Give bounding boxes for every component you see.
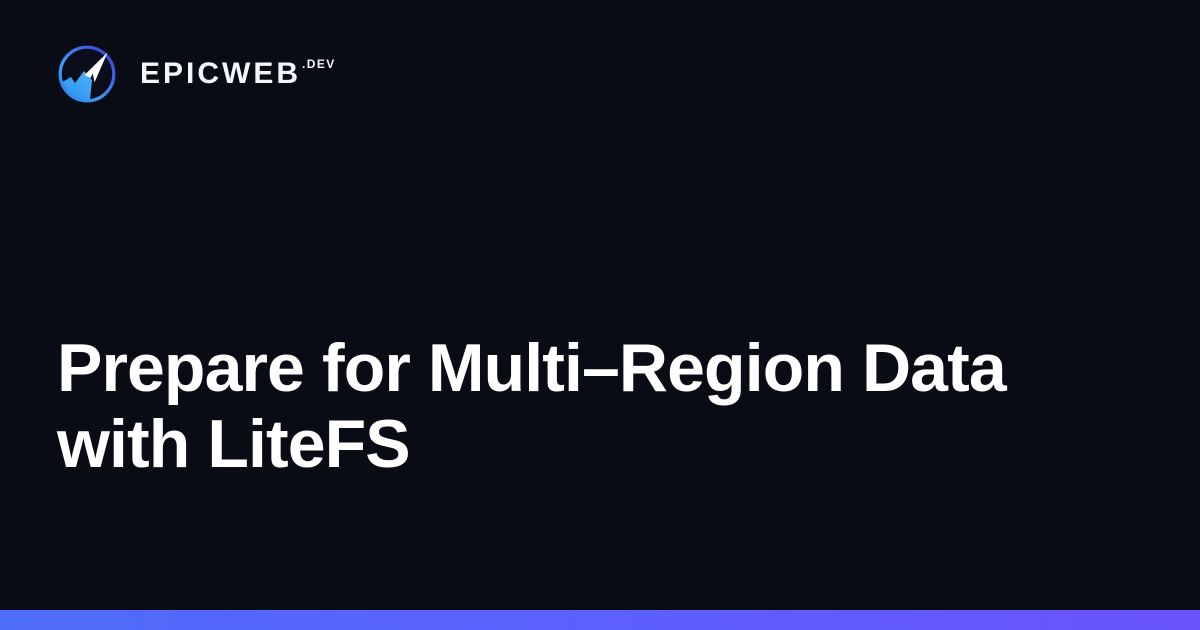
page-title: Prepare for Multi–Region Data with LiteF… (57, 330, 1143, 482)
accent-bar (0, 610, 1200, 630)
social-card: EPICWEB .DEV Prepare for Multi–Region Da… (0, 0, 1200, 630)
brand-name: EPICWEB (140, 59, 301, 89)
epicweb-rocket-circle-logo-icon (57, 44, 117, 104)
brand-wordmark: EPICWEB .DEV (140, 57, 336, 91)
brand-tld: .DEV (302, 58, 336, 70)
brand-lockup[interactable]: EPICWEB .DEV (57, 43, 336, 105)
